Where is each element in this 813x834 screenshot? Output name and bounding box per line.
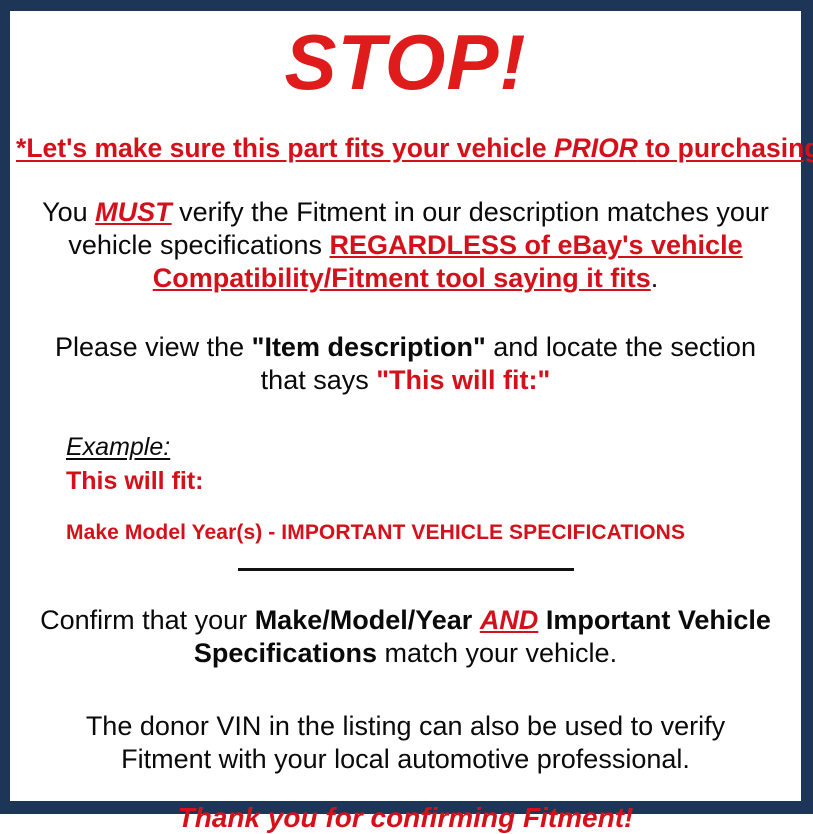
notice-content: STOP! *Let's make sure this part fits yo… (10, 11, 801, 801)
example-fit-heading: This will fit: (66, 466, 795, 496)
must-text-3: . (651, 263, 659, 293)
stop-title: STOP! (16, 23, 795, 101)
make-model-year-emphasis: Make/Model/Year (255, 605, 473, 635)
confirm-text-1: Confirm that your (40, 605, 255, 635)
subtitle-text-before: *Let's make sure this part fits your veh… (16, 133, 554, 163)
fitment-notice-card: STOP! *Let's make sure this part fits yo… (0, 0, 813, 814)
must-text-1: You (42, 197, 95, 227)
example-label-row: Example: (66, 433, 795, 463)
item-description-emphasis: "Item description" (252, 332, 486, 362)
item-description-paragraph: Please view the "Item description" and l… (38, 331, 773, 397)
section-divider (238, 568, 574, 571)
example-block: Example: This will fit: Make Model Year(… (16, 433, 795, 545)
subtitle-text-after: to purchasing* (638, 133, 813, 163)
must-emphasis: MUST (95, 197, 172, 227)
this-will-fit-emphasis: "This will fit:" (376, 365, 550, 395)
desc-text-1: Please view the (55, 332, 252, 362)
confirm-text-2 (472, 605, 480, 635)
confirm-text-3 (538, 605, 546, 635)
subtitle-emphasis-prior: PRIOR (554, 133, 638, 163)
example-label: Example: (66, 433, 170, 463)
notice-subtitle: *Let's make sure this part fits your veh… (16, 133, 795, 163)
example-spec-line: Make Model Year(s) - IMPORTANT VEHICLE S… (66, 520, 795, 545)
thank-you-message: Thank you for confirming Fitment! (16, 801, 795, 834)
and-emphasis: AND (480, 605, 539, 635)
must-verify-paragraph: You MUST verify the Fitment in our descr… (38, 196, 773, 295)
vin-paragraph: The donor VIN in the listing can also be… (38, 710, 773, 776)
section-divider-wrap (16, 568, 795, 571)
confirm-text-4: match your vehicle. (377, 638, 617, 668)
confirm-paragraph: Confirm that your Make/Model/Year AND Im… (38, 604, 773, 670)
